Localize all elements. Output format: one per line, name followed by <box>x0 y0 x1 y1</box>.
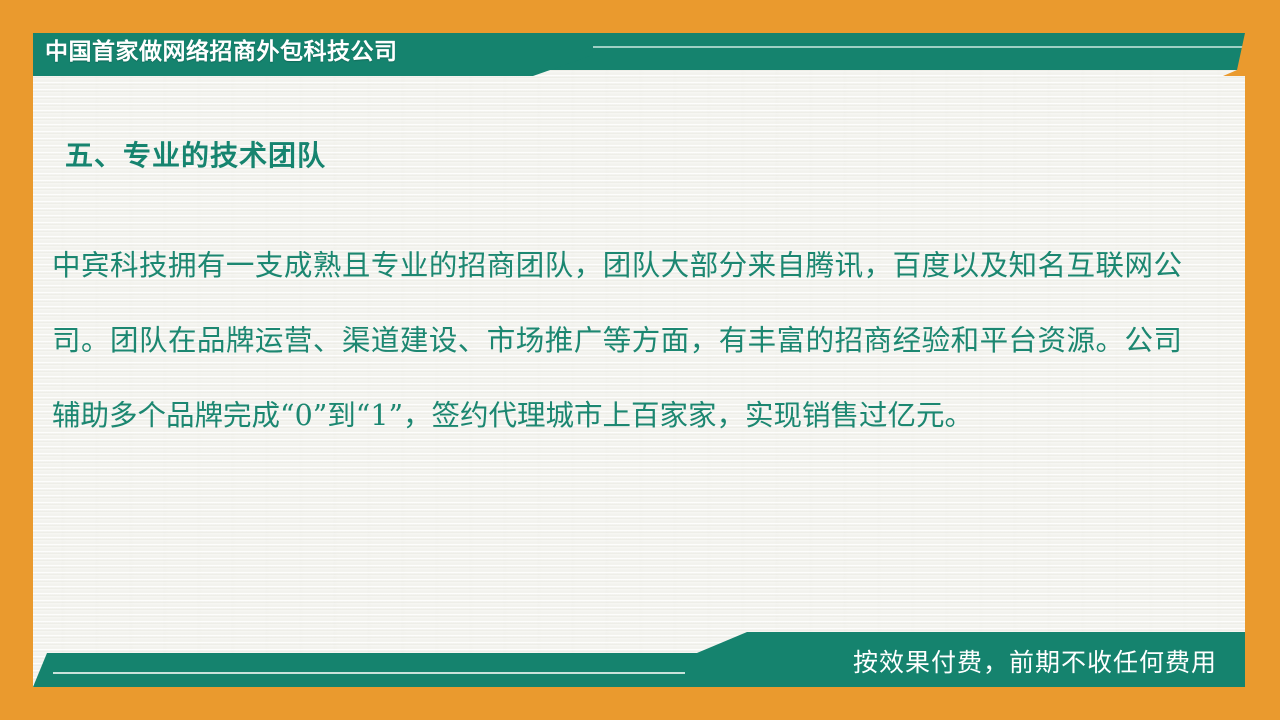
slide-canvas: 中国首家做网络招商外包科技公司 五、专业的技术团队 中宾科技拥有一支成熟且专业的… <box>0 0 1280 720</box>
header-divider-line <box>543 46 1245 48</box>
header-title: 中国首家做网络招商外包科技公司 <box>45 33 398 70</box>
footer-band: 按效果付费，前期不收任何费用 <box>33 632 1245 687</box>
section-heading: 五、专业的技术团队 <box>65 134 326 174</box>
header-title-block: 中国首家做网络招商外包科技公司 <box>33 33 593 76</box>
footer-hairline <box>53 672 723 674</box>
header-band: 中国首家做网络招商外包科技公司 <box>33 33 1245 76</box>
footer-slogan-block: 按效果付费，前期不收任何费用 <box>685 632 1245 687</box>
footer-slogan: 按效果付费，前期不收任何费用 <box>853 632 1217 687</box>
body-paragraph: 中宾科技拥有一支成熟且专业的招商团队，团队大部分来自腾讯，百度以及知名互联网公司… <box>52 228 1182 453</box>
